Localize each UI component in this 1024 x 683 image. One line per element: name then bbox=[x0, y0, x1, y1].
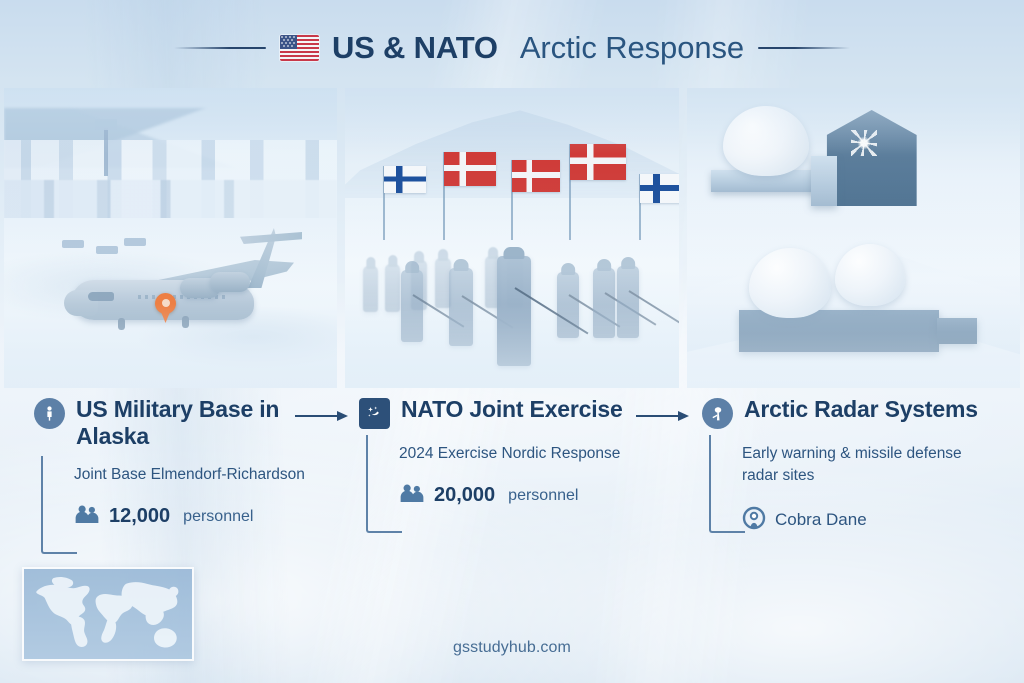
column-description: Early warning & missile defense radar si… bbox=[742, 443, 967, 488]
soldier-figure bbox=[617, 266, 639, 338]
annex-building bbox=[811, 156, 837, 206]
arrow-base-to-exercise bbox=[295, 410, 353, 422]
transport-aircraft bbox=[64, 216, 304, 346]
soldier-figure bbox=[363, 266, 378, 312]
connector-elbow bbox=[366, 435, 402, 533]
header-rule-right bbox=[758, 47, 850, 49]
column-nato-joint-exercise: NATO Joint Exercise 2024 Exercise Nordic… bbox=[341, 396, 682, 576]
column-description: 2024 Exercise Nordic Response bbox=[399, 443, 624, 465]
header-rule-left bbox=[174, 47, 266, 49]
radome-lower-right bbox=[835, 244, 905, 306]
arctic-radar-photo bbox=[687, 88, 1020, 388]
infographic-poster: US & NATO Arctic Response bbox=[0, 0, 1024, 683]
column-stat: Cobra Dane bbox=[742, 506, 1023, 535]
title-light: Arctic Response bbox=[520, 30, 744, 66]
stat-unit: personnel bbox=[183, 508, 253, 526]
poster-header: US & NATO Arctic Response bbox=[0, 22, 1024, 74]
nordic-flag-row bbox=[371, 130, 671, 240]
flag-denmark bbox=[512, 160, 560, 192]
soldier-figure bbox=[385, 264, 400, 312]
control-tower bbox=[104, 128, 108, 176]
flag-denmark bbox=[570, 144, 626, 180]
radar-dish-icon bbox=[742, 506, 766, 535]
stat-number: 20,000 bbox=[434, 484, 495, 507]
soldier-figure bbox=[401, 270, 423, 342]
column-title: Arctic Radar Systems bbox=[744, 396, 978, 423]
sparkle-icon bbox=[359, 398, 390, 429]
radome-upper bbox=[723, 106, 809, 176]
photo-strip bbox=[0, 88, 1024, 388]
us-flag-icon bbox=[280, 35, 319, 61]
support-structure bbox=[937, 318, 977, 344]
column-stat: 12,000 personnel bbox=[74, 504, 341, 529]
soldier-figure bbox=[593, 268, 615, 338]
people-group-icon bbox=[399, 483, 425, 508]
title-strong: US & NATO bbox=[332, 30, 498, 66]
column-us-military-base: US Military Base in Alaska Joint Base El… bbox=[0, 396, 341, 576]
page-title: US & NATO Arctic Response bbox=[280, 30, 744, 66]
soldier-figure bbox=[557, 272, 579, 338]
column-title: NATO Joint Exercise bbox=[401, 396, 623, 423]
arrow-exercise-to-radar bbox=[636, 410, 694, 422]
stat-number: 12,000 bbox=[109, 505, 170, 528]
column-description: Joint Base Elmendorf-Richardson bbox=[74, 464, 341, 486]
column-title: US Military Base in Alaska bbox=[76, 396, 326, 450]
person-icon bbox=[34, 398, 65, 429]
radome-lower-left bbox=[749, 248, 831, 318]
radar-operations-building bbox=[827, 110, 917, 206]
info-columns: US Military Base in Alaska Joint Base El… bbox=[0, 396, 1024, 576]
people-group-icon bbox=[74, 504, 100, 529]
lower-station-building bbox=[739, 310, 939, 352]
map-pin-marker bbox=[155, 293, 176, 323]
flag-denmark bbox=[444, 152, 496, 186]
soldier-figure-lead bbox=[497, 256, 531, 366]
connector-elbow bbox=[709, 435, 745, 533]
column-stat: 20,000 personnel bbox=[399, 483, 682, 508]
column-arctic-radar-systems: Arctic Radar Systems Early warning & mis… bbox=[682, 396, 1023, 576]
stat-label: Cobra Dane bbox=[775, 510, 867, 530]
radar-tower-icon bbox=[702, 398, 733, 429]
connector-elbow bbox=[41, 456, 77, 554]
stat-unit: personnel bbox=[508, 487, 578, 505]
soldier-figure bbox=[449, 268, 473, 346]
alaska-airbase-photo bbox=[4, 88, 337, 388]
nato-exercise-photo bbox=[345, 88, 678, 388]
flag-finland bbox=[384, 166, 426, 193]
flag-finland bbox=[640, 174, 678, 203]
footer-site-url: gsstudyhub.com bbox=[0, 639, 1024, 657]
